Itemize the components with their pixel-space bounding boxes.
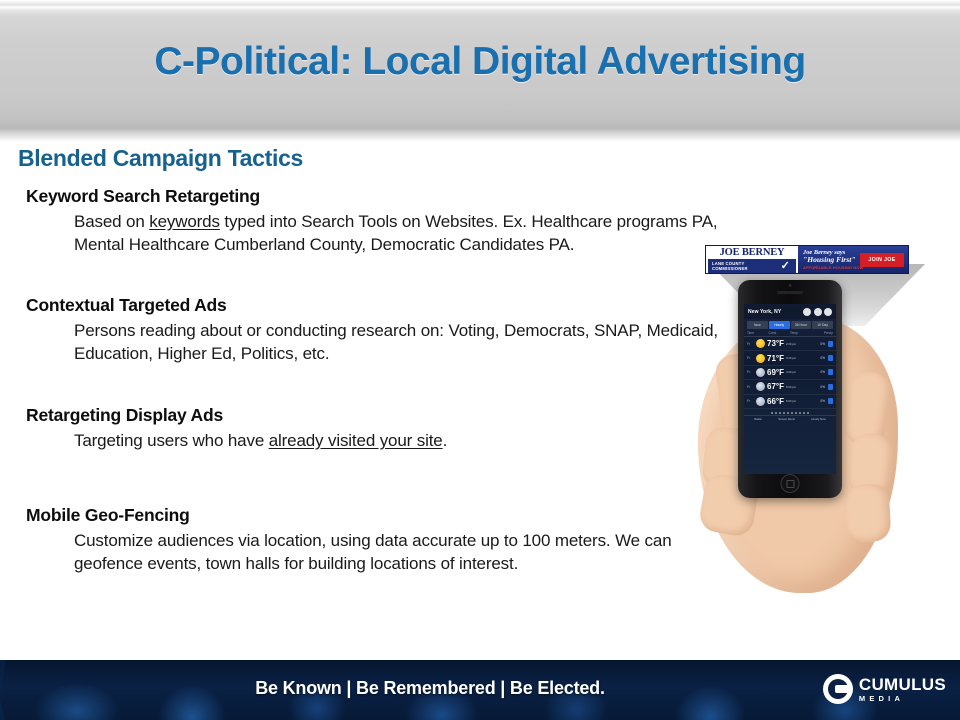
page-title: C-Political: Local Digital Advertising <box>0 40 960 84</box>
header-divider <box>0 128 960 142</box>
cloud-icon <box>756 382 765 391</box>
weather-app-bottom-bar: Radar Severe Alerts Hourly Now <box>744 415 836 422</box>
column-header-precip: Precip <box>812 331 834 335</box>
forecast-time: 2:00 pm <box>786 342 818 346</box>
forecast-precip: 0% <box>820 385 825 389</box>
gear-icon[interactable] <box>824 308 832 316</box>
forecast-row[interactable]: Fr 69°F 4:00 pm 0% <box>744 366 836 380</box>
block-heading: Mobile Geo-Fencing <box>26 505 686 526</box>
body-underline: already visited your site <box>269 431 443 450</box>
forecast-day: Fr <box>747 370 754 374</box>
precip-badge-icon <box>828 369 833 375</box>
dot <box>771 412 773 414</box>
slide: C-Political: Local Digital Advertising B… <box>0 0 960 720</box>
dot <box>803 412 805 414</box>
dot <box>775 412 777 414</box>
location-icon[interactable] <box>814 308 822 316</box>
forecast-row[interactable]: Fr 71°F 3:00 pm 0% <box>744 351 836 365</box>
sun-icon <box>756 339 765 348</box>
block-body: Based on keywords typed into Search Tool… <box>74 211 726 256</box>
ad-message-panel: Joe Berney says "Housing First" AFFORDAB… <box>798 246 908 273</box>
body-pre: Persons reading about or conducting rese… <box>74 321 718 363</box>
forecast-time: 5:00 pm <box>786 385 818 389</box>
weather-app-header: New York, NY <box>744 304 836 319</box>
dot <box>807 412 809 414</box>
body-pre: Customize audiences via location, using … <box>74 531 672 573</box>
precip-badge-icon <box>828 384 833 390</box>
tab-10-day[interactable]: 10 Day <box>812 321 833 329</box>
column-header-time: Time <box>747 331 769 335</box>
front-camera-icon <box>789 284 792 287</box>
precip-badge-icon <box>828 355 833 361</box>
dot <box>795 412 797 414</box>
block-body: Persons reading about or conducting rese… <box>74 320 726 365</box>
weather-tabs: Now Hourly 36 Hour 10 Day <box>744 319 836 330</box>
cumulus-logo-icon <box>823 674 853 704</box>
cloud-icon <box>756 368 765 377</box>
block-heading: Keyword Search Retargeting <box>26 186 726 207</box>
checkmark-icon: ✓ <box>781 260 790 272</box>
refresh-icon[interactable] <box>803 308 811 316</box>
block-heading: Contextual Targeted Ads <box>26 295 726 316</box>
precip-badge-icon <box>828 341 833 347</box>
body-pre: Based on <box>74 212 149 231</box>
forecast-precip: 0% <box>820 370 825 374</box>
dot <box>799 412 801 414</box>
tab-hourly[interactable]: Hourly <box>769 321 790 329</box>
forecast-temp: 73°F <box>767 339 784 348</box>
body-post: . <box>443 431 448 450</box>
ad-candidate-panel: JOE BERNEY LANE COUNTY COMMISSIONER ✓ <box>706 246 798 273</box>
forecast-precip: 0% <box>820 342 825 346</box>
earpiece-speaker <box>777 291 803 294</box>
forecast-time: 3:00 pm <box>786 356 818 360</box>
content-block-retargeting-display-ads: Retargeting Display Ads Targeting users … <box>26 405 646 453</box>
block-heading: Retargeting Display Ads <box>26 405 646 426</box>
ad-office-panel: LANE COUNTY COMMISSIONER ✓ <box>708 259 796 273</box>
cumulus-media-logo: CUMULUS MEDIA <box>823 674 946 704</box>
column-header-temp: Temp <box>790 331 812 335</box>
tab-now[interactable]: Now <box>747 321 768 329</box>
forecast-row[interactable]: Fr 73°F 2:00 pm 0% <box>744 337 836 351</box>
illustration-mobile-ad-delivery: JOE BERNEY LANE COUNTY COMMISSIONER ✓ Jo… <box>690 238 960 628</box>
block-body: Targeting users who have already visited… <box>74 430 646 453</box>
logo-secondary-text: MEDIA <box>859 695 946 703</box>
sun-icon <box>756 354 765 363</box>
column-header-cond: Cond. <box>769 331 791 335</box>
dot <box>779 412 781 414</box>
finger-lower <box>845 483 892 543</box>
forecast-column-headers: Time Cond. Temp Precip <box>744 330 836 337</box>
home-button[interactable] <box>781 474 800 493</box>
block-body: Customize audiences via location, using … <box>74 530 686 575</box>
ad-cta-button[interactable]: JOIN JOE <box>860 253 904 267</box>
forecast-precip: 0% <box>820 399 825 403</box>
forecast-day: Fr <box>747 342 754 346</box>
forecast-time: 6:00 pm <box>786 399 818 403</box>
weather-location-label: New York, NY <box>748 309 781 315</box>
bottom-item-hourly-now[interactable]: Hourly Now <box>811 417 825 421</box>
weather-header-icons <box>803 308 832 316</box>
forecast-temp: 69°F <box>767 368 784 377</box>
dot <box>791 412 793 414</box>
forecast-time: 4:00 pm <box>786 370 818 374</box>
forecast-temp: 67°F <box>767 382 784 391</box>
forecast-temp: 71°F <box>767 354 784 363</box>
tab-36-hour[interactable]: 36 Hour <box>791 321 812 329</box>
body-underline: keywords <box>149 212 220 231</box>
forecast-row[interactable]: Fr 66°F 6:00 pm 0% <box>744 395 836 409</box>
footer-bar: Be Known | Be Remembered | Be Elected. C… <box>0 660 960 720</box>
banner-ad-joe-berney: JOE BERNEY LANE COUNTY COMMISSIONER ✓ Jo… <box>705 245 909 274</box>
content-block-contextual-targeted-ads: Contextual Targeted Ads Persons reading … <box>26 295 726 365</box>
phone-screen-weather-app: New York, NY Now Hourly 36 Hour 10 Day T… <box>744 304 836 474</box>
dot <box>783 412 785 414</box>
forecast-day: Fr <box>747 356 754 360</box>
logo-wordmark: CUMULUS MEDIA <box>859 676 946 703</box>
forecast-day: Fr <box>747 385 754 389</box>
cloud-icon <box>756 397 765 406</box>
forecast-row[interactable]: Fr 67°F 5:00 pm 0% <box>744 380 836 394</box>
forecast-precip: 0% <box>820 356 825 360</box>
body-pre: Targeting users who have <box>74 431 269 450</box>
smartphone-device: New York, NY Now Hourly 36 Hour 10 Day T… <box>738 280 842 498</box>
content-block-keyword-search-retargeting: Keyword Search Retargeting Based on keyw… <box>26 186 726 256</box>
ad-candidate-name: JOE BERNEY <box>720 247 785 258</box>
dot <box>787 412 789 414</box>
forecast-day: Fr <box>747 399 754 403</box>
precip-badge-icon <box>828 398 833 404</box>
forecast-temp: 66°F <box>767 397 784 406</box>
bottom-item-severe-alerts[interactable]: Severe Alerts <box>778 417 795 421</box>
logo-primary-text: CUMULUS <box>859 676 946 693</box>
bottom-item-radar[interactable]: Radar <box>754 417 762 421</box>
content-block-mobile-geo-fencing: Mobile Geo-Fencing Customize audiences v… <box>26 505 686 575</box>
footer-tagline: Be Known | Be Remembered | Be Elected. <box>0 678 860 699</box>
section-title: Blended Campaign Tactics <box>18 145 303 172</box>
